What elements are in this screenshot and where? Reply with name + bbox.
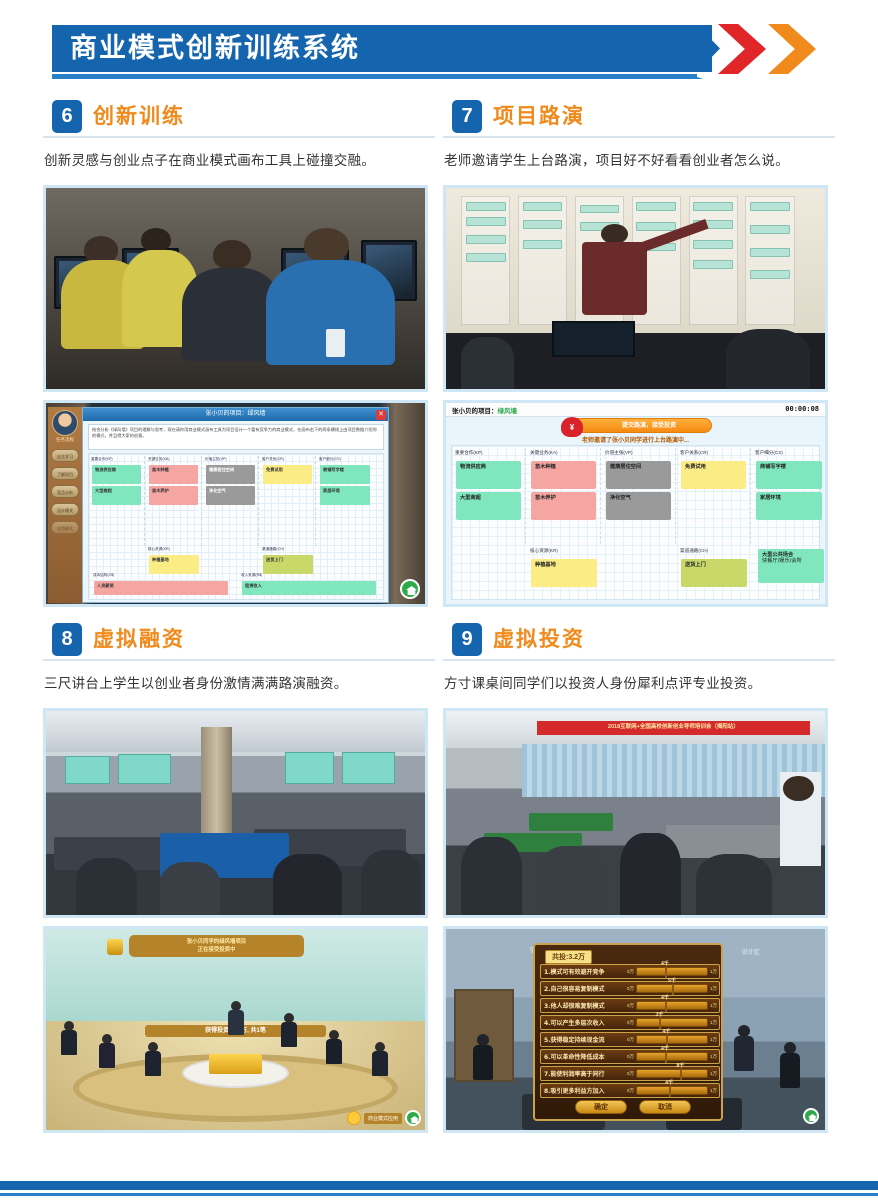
close-icon[interactable]: ✕ [376, 410, 386, 420]
home-icon[interactable] [803, 1108, 819, 1124]
rating-slider[interactable]: 4千 [636, 1001, 708, 1010]
section-9: 9 虚拟投资 方寸课桌间同学们以投资人身份犀利点评专业投资。 2018互联网+全… [443, 620, 835, 1133]
roadshow-project-name: 绿风墙 [498, 408, 518, 415]
roadshow-timer: 00:00:08 [785, 405, 819, 413]
canvas-card[interactable]: 健康居住空间 [606, 461, 671, 489]
canvas-col-header-cs: 客户细分(CS) [752, 448, 826, 458]
training-lecture-hall-photo: 2018互联网+全国高校创新创业导师培训会（揭阳站） [446, 711, 825, 915]
section-9-header: 9 虚拟投资 [443, 620, 835, 662]
rating-slider[interactable]: 5千 [636, 984, 708, 993]
rating-row-label: 2.自己很容易复制模式 [541, 984, 627, 993]
section-8-screenshot: 张小贝同学的绿风墙项目 正在接受投资中 获得投资: 3.2万, 共1笔 商业模式… [43, 926, 428, 1133]
poster-page: 商业模式创新训练系统 6 创新训练 创新灵感与创业点子在商业模式画布工具上碰撞交… [0, 0, 878, 1200]
sidebar-item-understand-project[interactable]: 了解项目 [51, 467, 79, 480]
canvas-col-header-kp: 重要合作(KP) [89, 456, 144, 463]
gold-pile-icon [209, 1054, 262, 1074]
student-presenting-at-wall-photo [446, 188, 825, 389]
slider-min-label: 0万 [627, 1020, 634, 1026]
sidebar-avatar-label: 任务流程 [48, 437, 82, 443]
cancel-button[interactable]: 取消 [639, 1100, 691, 1114]
page-footer [0, 1174, 878, 1200]
canvas-col-header-vp: 价值主张(VP) [203, 456, 258, 463]
photo-banner-text: 2018互联网+全国高校创新创业导师培训会（揭阳站） [537, 721, 810, 735]
footer-bar-secondary [0, 1193, 878, 1196]
canvas-dialog: 张小贝的项目：绿风墙 ✕ 结合分析《绿风墙》项目的理解与思考，现在请你用商业模式… [82, 407, 389, 603]
canvas-col-header-ka: 关键业务(KA) [146, 456, 201, 463]
roadshow-canvas-app: 张小贝的项目：绿风墙 00:00:08 提交路演，接受投资 老师邀请了张小贝同学… [446, 403, 825, 604]
canvas-dialog-title: 张小贝的项目：绿风墙 [83, 408, 388, 421]
rating-row[interactable]: 5.获得稳定持续现金流 0万 4千 1万 [540, 1032, 720, 1047]
slider-min-label: 0万 [627, 1088, 634, 1094]
rating-value: 4千 [661, 994, 669, 1001]
section-9-description: 方寸课桌间同学们以投资人身份犀利点评专业投资。 [444, 674, 835, 694]
canvas-sidebar: 任务流程 自主学习 了解项目 竞品分析 设计模式 应用模式 [48, 407, 82, 603]
canvas-card[interactable]: 净化空气 [206, 486, 255, 505]
canvas-col-header-kr: 核心资源(KR) [146, 546, 202, 553]
virtual-financing-scene: 张小贝同学的绿风墙项目 正在接受投资中 获得投资: 3.2万, 共1笔 商业模式… [46, 929, 425, 1130]
avatar [52, 410, 78, 436]
business-model-canvas[interactable]: 重要合作(KP) 物流供应商 大型商超 关键业务(KA) 苗木种植 苗木养护 价… [88, 453, 384, 600]
section-8-header: 8 虚拟融资 [43, 620, 435, 662]
rating-row[interactable]: 4.可以产生多层次收入 0万 3千 1万 [540, 1015, 720, 1030]
canvas-card[interactable]: 苗木种植 [149, 465, 198, 484]
page-header: 商业模式创新训练系统 [0, 0, 878, 96]
sidebar-item-design-model[interactable]: 设计模式 [51, 503, 79, 516]
coin-stack-icon [107, 939, 123, 955]
submit-roadshow-button[interactable]: 提交路演，接受投资 [564, 418, 712, 433]
total-investment-label: 共投:3.2万 [545, 950, 592, 964]
slider-min-label: 0万 [627, 1071, 634, 1077]
section-8: 8 虚拟融资 三尺讲台上学生以创业者身份激情满满路演融资。 [43, 620, 435, 1133]
financing-bubble-line2: 正在接受投资中 [198, 947, 236, 953]
canvas-card[interactable]: 大型商超 [92, 486, 141, 505]
slider-min-label: 0万 [627, 1003, 634, 1009]
rating-row[interactable]: 1.模式可有效避开竞争 0万 4千 1万 [540, 964, 720, 979]
rating-slider[interactable]: 4千 [636, 967, 708, 976]
rating-row[interactable]: 2.自己很容易复制模式 0万 5千 1万 [540, 981, 720, 996]
slider-max-label: 1万 [710, 1071, 719, 1077]
canvas-card[interactable]: 苗木养护 [149, 486, 198, 505]
canvas-card[interactable]: 物流供应商 [456, 461, 521, 489]
virtual-investment-scene: 学习区 设计区 共投:3.2万 1.模式可有效避开竞争 0万 4千 [446, 929, 825, 1130]
confirm-button[interactable]: 确定 [575, 1100, 627, 1114]
rating-row[interactable]: 3.他人却很难复制模式 0万 4千 1万 [540, 998, 720, 1013]
mascot-face-icon [347, 1111, 361, 1125]
roadshow-status-text: 老师邀请了张小贝同学进行上台路演中... [446, 435, 825, 444]
section-8-divider [43, 659, 435, 661]
canvas-revenue-card[interactable]: 租赁收入 [242, 581, 376, 595]
money-bag-icon [561, 417, 583, 437]
page-title: 商业模式创新训练系统 [70, 34, 360, 64]
rating-value: 4千 [663, 1028, 671, 1035]
rating-row-label: 4.可以产生多层次收入 [541, 1018, 627, 1027]
canvas-col-header-cr: 客户关系(CR) [260, 456, 315, 463]
sidebar-item-self-study[interactable]: 自主学习 [51, 449, 79, 462]
rating-value: 4千 [661, 960, 669, 967]
canvas-card[interactable]: 家居环境 [320, 486, 370, 505]
rating-row-label: 6.可以革命性降低成本 [541, 1052, 627, 1061]
rating-row[interactable]: 6.可以革命性降低成本 0万 4千 1万 [540, 1049, 720, 1064]
home-button-wrap[interactable] [803, 1108, 819, 1124]
section-7-screenshot: 张小贝的项目：绿风墙 00:00:08 提交路演，接受投资 老师邀请了张小贝同学… [443, 400, 828, 607]
section-9-screenshot: 学习区 设计区 共投:3.2万 1.模式可有效避开竞争 0万 4千 [443, 926, 828, 1133]
rating-row-label: 3.他人却很难复制模式 [541, 1001, 627, 1010]
section-8-title: 虚拟融资 [93, 624, 185, 654]
slider-max-label: 1万 [710, 1037, 719, 1043]
slider-min-label: 0万 [627, 969, 634, 975]
rating-value: 3千 [656, 1011, 664, 1018]
section-8-number: 8 [52, 623, 82, 656]
canvas-col-header-cr: 客户关系(CR) [677, 448, 750, 458]
financing-bubble: 张小贝同学的绿风墙项目 正在接受投资中 [129, 935, 303, 957]
section-9-number: 9 [452, 623, 482, 656]
canvas-card[interactable]: 送货上门 [681, 559, 747, 587]
canvas-card[interactable]: 苗木种植 [531, 461, 596, 489]
slider-min-label: 0万 [627, 986, 634, 992]
canvas-card[interactable]: 商铺写字楼 [320, 465, 370, 484]
section-9-title: 虚拟投资 [493, 624, 585, 654]
canvas-col-header-ch: 渠道通路(CH) [677, 546, 751, 556]
canvas-card[interactable]: 商铺写字楼 [756, 461, 822, 489]
computer-lab-discussion-photo [46, 188, 425, 389]
slider-max-label: 1万 [710, 1020, 719, 1026]
section-7-header: 7 项目路演 [443, 97, 835, 139]
rating-row-label: 1.模式可有效避开竞争 [541, 967, 627, 976]
section-9-photo: 2018互联网+全国高校创新创业导师培训会（揭阳站） [443, 708, 828, 918]
footer-bar-primary [0, 1181, 878, 1190]
canvas-card[interactable]: 苗木养护 [531, 492, 596, 520]
submit-roadshow-label: 提交路演，接受投资 [622, 423, 676, 429]
slider-max-label: 1万 [710, 986, 719, 992]
section-6-screenshot: 任务流程 自主学习 了解项目 竞品分析 设计模式 应用模式 张小贝的项目：绿风墙… [43, 400, 428, 607]
canvas-col-header-kr: 核心资源(KR) [527, 546, 601, 556]
section-6-number: 6 [52, 100, 82, 133]
chevron-red-icon [718, 24, 766, 74]
canvas-col-header-vp: 价值主张(VP) [602, 448, 675, 458]
sidebar-item-apply-model[interactable]: 应用模式 [51, 521, 79, 534]
rating-value: 4千 [661, 1045, 669, 1052]
scene-tag-label: 商业模式应用 [364, 1113, 402, 1124]
canvas-side-card[interactable]: 大型公共场合 快餐厅/娱乐/会所 [758, 549, 824, 583]
section-7-title: 项目路演 [493, 101, 585, 131]
business-model-canvas[interactable]: 重要合作(KP) 物流供应商 大型商超 关键业务(KA) 苗木种植 苗木养护 价… [451, 445, 820, 600]
rating-slider[interactable]: 4千 [636, 1086, 708, 1095]
canvas-card[interactable]: 大型商超 [456, 492, 521, 520]
canvas-card[interactable]: 净化空气 [606, 492, 671, 520]
canvas-card[interactable]: 种植基地 [531, 559, 597, 587]
section-6-title: 创新训练 [93, 101, 185, 131]
slider-max-label: 1万 [710, 969, 719, 975]
canvas-app-window: 任务流程 自主学习 了解项目 竞品分析 设计模式 应用模式 张小贝的项目：绿风墙… [46, 403, 425, 604]
section-6-header: 6 创新训练 [43, 97, 435, 139]
rating-row[interactable]: 7.能使利润率高于同行 0万 8千 1万 [540, 1066, 720, 1081]
canvas-cost-header: 成本结构(C$) [91, 572, 231, 579]
canvas-col-header-kp: 重要合作(KP) [452, 448, 525, 458]
scene-footer-tag: 商业模式应用 [347, 1110, 421, 1126]
slider-max-label: 1万 [710, 1003, 719, 1009]
section-7-divider [443, 136, 835, 138]
home-icon[interactable] [400, 579, 420, 599]
section-7-number: 7 [452, 100, 482, 133]
canvas-card[interactable]: 免费试用 [263, 465, 312, 484]
rating-slider[interactable]: 8千 [636, 1069, 708, 1078]
section-6: 6 创新训练 创新灵感与创业点子在商业模式画布工具上碰撞交融。 [43, 97, 435, 607]
slider-max-label: 1万 [710, 1054, 719, 1060]
section-8-description: 三尺讲台上学生以创业者身份激情满满路演融资。 [44, 674, 435, 694]
section-6-divider [43, 136, 435, 138]
section-8-photo [43, 708, 428, 918]
section-9-divider [443, 659, 835, 661]
rating-row[interactable]: 8.吸引更多利益方加入 0万 4千 1万 [540, 1083, 720, 1098]
section-7: 7 项目路演 老师邀请学生上台路演，项目好不好看看创业者怎么说。 [443, 97, 835, 607]
rating-value: 5千 [668, 977, 676, 984]
scene-label-design-area: 设计区 [742, 947, 760, 956]
section-7-photo [443, 185, 828, 392]
slider-min-label: 0万 [627, 1037, 634, 1043]
canvas-revenue-header: 收入来源(R$) [239, 572, 379, 579]
section-6-description: 创新灵感与创业点子在商业模式画布工具上碰撞交融。 [44, 151, 435, 171]
rating-slider[interactable]: 3千 [636, 1018, 708, 1027]
canvas-cost-card[interactable]: 人员薪资 [94, 581, 228, 595]
slider-min-label: 0万 [627, 1054, 634, 1060]
sidebar-item-competitor-analysis[interactable]: 竞品分析 [51, 485, 79, 498]
section-6-photo [43, 185, 428, 392]
canvas-col-header-ch: 渠道通路(CH) [260, 546, 316, 553]
section-7-description: 老师邀请学生上台路演，项目好不好看看创业者怎么说。 [444, 151, 835, 171]
rating-row-label: 5.获得稳定持续现金流 [541, 1035, 627, 1044]
chevron-orange-icon [768, 24, 816, 74]
canvas-card[interactable]: 物流供应商 [92, 465, 141, 484]
slider-max-label: 1万 [710, 1088, 719, 1094]
header-underline-bar [52, 74, 697, 79]
canvas-card[interactable]: 免费试用 [681, 461, 746, 489]
canvas-card[interactable]: 家居环境 [756, 492, 822, 520]
canvas-instructions: 结合分析《绿风墙》项目的理解与思考，现在请你用商业模式画布工具为项目设计一个富有… [88, 424, 384, 450]
rating-row-label: 7.能使利润率高于同行 [541, 1069, 627, 1078]
rating-value: 4千 [665, 1079, 673, 1086]
canvas-col-header-ka: 关键业务(KA) [527, 448, 600, 458]
canvas-card[interactable]: 健康居住空间 [206, 465, 255, 484]
rating-slider[interactable]: 4千 [636, 1052, 708, 1061]
financing-bubble-line1: 张小贝同学的绿风墙项目 [187, 939, 246, 945]
investment-rating-dialog[interactable]: 共投:3.2万 1.模式可有效避开竞争 0万 4千 1万 2.自己很容易复制模式… [533, 943, 723, 1121]
home-icon[interactable] [405, 1110, 421, 1126]
rating-value: 8千 [677, 1062, 685, 1069]
roadshow-project-label: 张小贝的项目：绿风墙 [452, 405, 517, 415]
canvas-side-card-sub: 快餐厅/娱乐/会所 [762, 558, 802, 564]
canvas-col-header-cs: 客户细分(CS) [317, 456, 373, 463]
rating-slider[interactable]: 4千 [636, 1035, 708, 1044]
roadshow-topbar: 张小贝的项目：绿风墙 00:00:08 [446, 403, 825, 417]
classroom-financing-photo [46, 711, 425, 915]
rating-row-label: 8.吸引更多利益方加入 [541, 1086, 627, 1095]
